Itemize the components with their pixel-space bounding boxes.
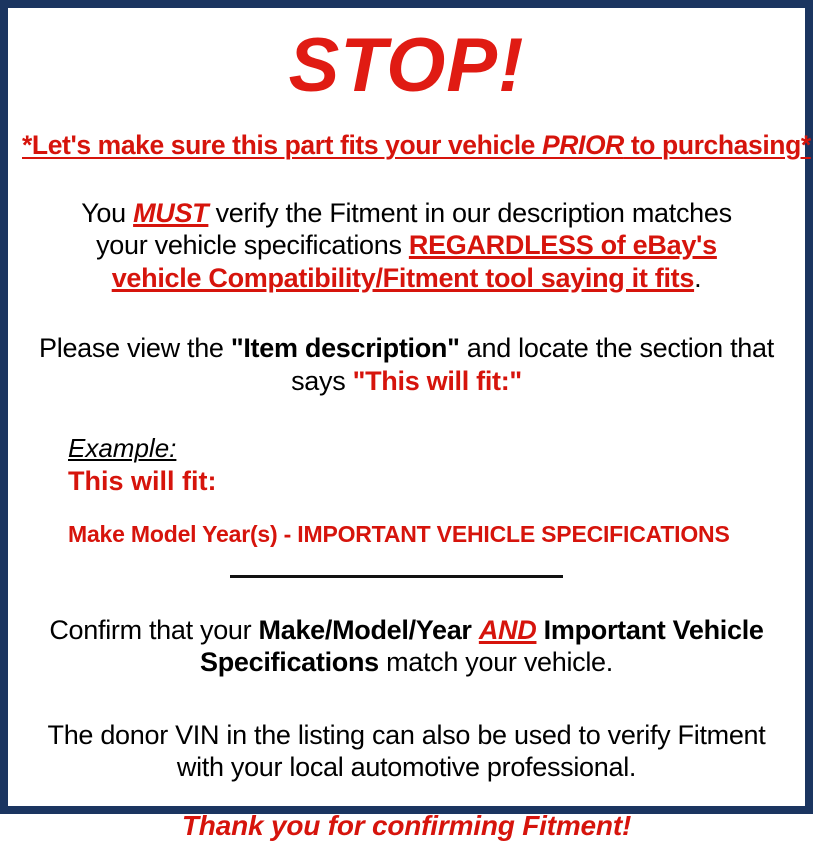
must-seg-5: . xyxy=(694,263,701,293)
subtitle-line: *Let's make sure this part fits your veh… xyxy=(22,130,791,161)
example-label-row: Example: xyxy=(68,433,791,464)
example-block: Example: This will fit: Make Model Year(… xyxy=(68,433,791,548)
subtitle-text-after: to purchasing* xyxy=(624,130,811,160)
make-model-year-label: Make/Model/Year xyxy=(259,615,472,645)
paragraph-item-description: Please view the "Item description" and l… xyxy=(36,332,777,397)
subtitle-text-before: *Let's make sure this part fits your veh… xyxy=(22,130,542,160)
must-seg-1: You xyxy=(81,198,133,228)
confirm-seg-7: match your vehicle. xyxy=(379,647,613,677)
and-emphasis: AND xyxy=(479,615,537,645)
stop-heading: STOP! xyxy=(22,28,791,104)
item-description-label: "Item description" xyxy=(231,333,460,363)
example-label: Example: xyxy=(68,433,176,464)
example-spec-line: Make Model Year(s) - IMPORTANT VEHICLE S… xyxy=(68,521,791,548)
must-emphasis: MUST xyxy=(133,198,208,228)
confirm-seg-5 xyxy=(536,615,543,645)
closing-thank-you: Thank you for confirming Fitment! xyxy=(22,810,791,842)
example-fit-header: This will fit: xyxy=(68,466,791,497)
please-seg-1: Please view the xyxy=(39,333,231,363)
confirm-seg-3 xyxy=(472,615,479,645)
horizontal-divider xyxy=(230,575,563,578)
paragraph-confirm: Confirm that your Make/Model/Year AND Im… xyxy=(42,614,771,679)
divider-wrap xyxy=(22,570,791,584)
this-will-fit-label: "This will fit:" xyxy=(353,366,522,396)
confirm-seg-1: Confirm that your xyxy=(49,615,258,645)
paragraph-must-verify: You MUST verify the Fitment in our descr… xyxy=(54,197,759,294)
subtitle-emphasis-prior: PRIOR xyxy=(542,130,624,160)
paragraph-donor-vin: The donor VIN in the listing can also be… xyxy=(32,719,781,784)
fitment-notice-card: STOP! *Let's make sure this part fits yo… xyxy=(0,0,813,814)
